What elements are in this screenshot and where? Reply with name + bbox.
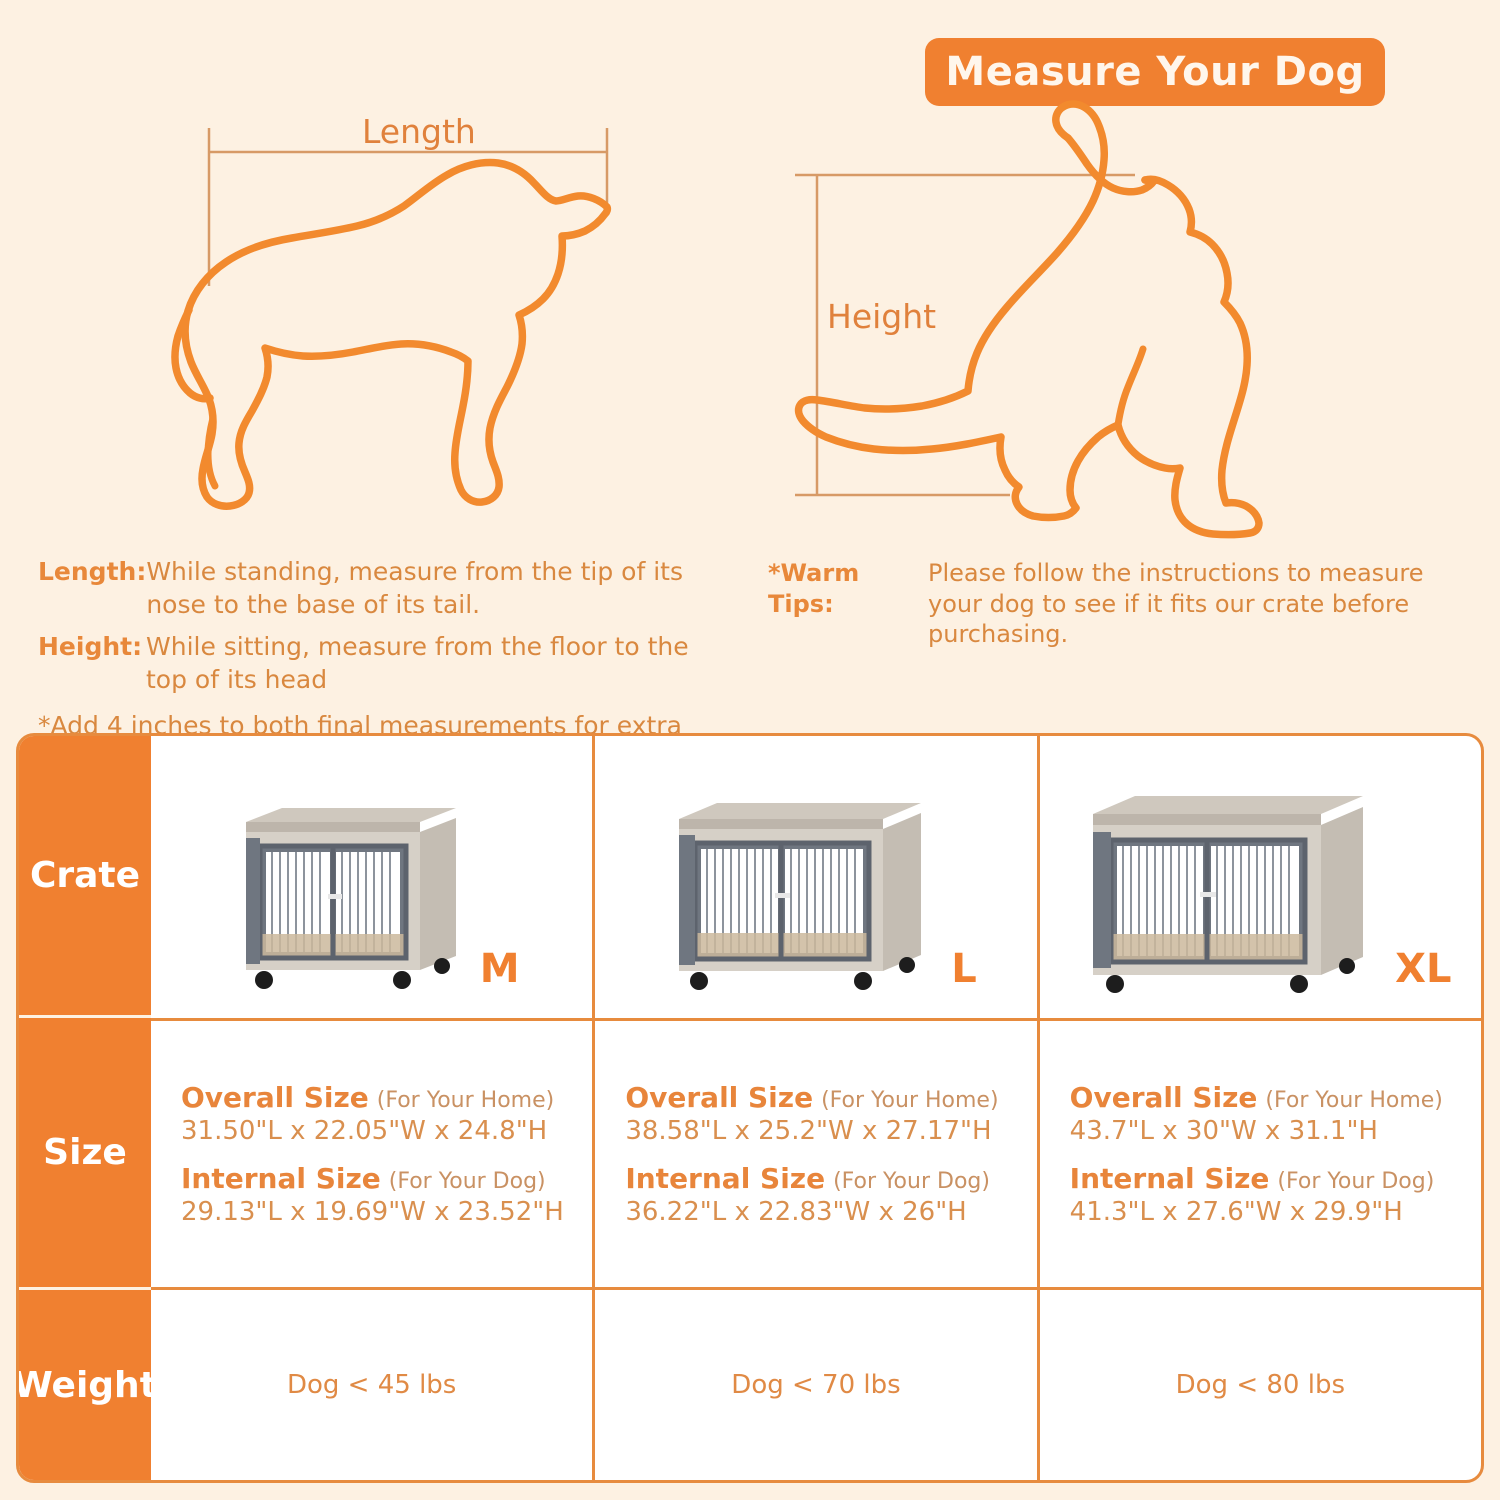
- internal-size-label-m: Internal Size: [181, 1162, 381, 1195]
- table-row-crate: M: [151, 736, 1481, 1018]
- crate-cell-m: M: [151, 736, 595, 1018]
- internal-size-paren-l: (For Your Dog): [833, 1169, 990, 1194]
- internal-size-heading-l: Internal Size(For Your Dog): [625, 1162, 1036, 1195]
- internal-size-paren-xl: (For Your Dog): [1277, 1169, 1434, 1194]
- overall-size-paren-m: (For Your Home): [377, 1088, 554, 1113]
- warm-tips-key: *Warm Tips:: [768, 558, 928, 619]
- size-tag-l: L: [951, 946, 977, 992]
- standing-dog-outline-icon: [185, 163, 607, 507]
- size-tag-m: M: [480, 946, 520, 992]
- size-tag-xl: XL: [1395, 946, 1451, 992]
- table-row-weight: Dog < 45 lbs Dog < 70 lbs Dog < 80 lbs: [151, 1290, 1481, 1480]
- instruction-length: Length: While standing, measure from the…: [38, 556, 728, 621]
- internal-size-heading-m: Internal Size(For Your Dog): [181, 1162, 592, 1195]
- crate-photo-wrap-xl: XL: [1069, 744, 1451, 1014]
- table-row-size: Overall Size(For Your Home) 31.50"L x 22…: [151, 1018, 1481, 1290]
- dog-crate-furniture-photo: [655, 779, 945, 1014]
- internal-size-label-xl: Internal Size: [1070, 1162, 1270, 1195]
- dog-crate-furniture-photo: [1069, 774, 1389, 1014]
- row-label-crate: Crate: [19, 736, 151, 1018]
- overall-size-heading-xl: Overall Size(For Your Home): [1070, 1081, 1481, 1114]
- weight-value-xl: Dog < 80 lbs: [1176, 1370, 1345, 1400]
- internal-size-heading-xl: Internal Size(For Your Dog): [1070, 1162, 1481, 1195]
- weight-value-l: Dog < 70 lbs: [731, 1370, 900, 1400]
- overall-size-dims-l: 38.58"L x 25.2"W x 27.17"H: [625, 1116, 1036, 1146]
- size-cell-l: Overall Size(For Your Home) 38.58"L x 25…: [595, 1021, 1039, 1287]
- instruction-height-key: Height:: [38, 631, 146, 664]
- weight-cell-l: Dog < 70 lbs: [595, 1290, 1039, 1480]
- illustration-area: Length Height: [0, 0, 1500, 545]
- crate-comparison-table: Crate Size Weight: [16, 733, 1484, 1483]
- warm-tips: *Warm Tips: Please follow the instructio…: [768, 558, 1483, 650]
- overall-size-label-m: Overall Size: [181, 1081, 369, 1114]
- internal-size-paren-m: (For Your Dog): [389, 1169, 546, 1194]
- instruction-height-text: While sitting, measure from the floor to…: [146, 631, 716, 696]
- dog-crate-furniture-photo: [224, 784, 474, 1014]
- row-label-size: Size: [19, 1018, 151, 1290]
- internal-size-label-l: Internal Size: [625, 1162, 825, 1195]
- overall-size-dims-xl: 43.7"L x 30"W x 31.1"H: [1070, 1116, 1481, 1146]
- weight-value-m: Dog < 45 lbs: [287, 1370, 456, 1400]
- crate-cell-l: L: [595, 736, 1039, 1018]
- row-label-weight: Weight: [19, 1290, 151, 1480]
- standing-dog-rear-leg-icon: [208, 418, 215, 486]
- overall-size-heading-m: Overall Size(For Your Home): [181, 1081, 592, 1114]
- length-dimension-label: Length: [362, 112, 476, 151]
- warm-tips-text: Please follow the instructions to measur…: [928, 558, 1483, 650]
- crate-photo-wrap-l: L: [655, 744, 977, 1014]
- infographic-page: Measure Your Dog: [0, 0, 1500, 1500]
- overall-size-dims-m: 31.50"L x 22.05"W x 24.8"H: [181, 1116, 592, 1146]
- internal-size-dims-l: 36.22"L x 22.83"W x 26"H: [625, 1197, 1036, 1227]
- height-dimension-label: Height: [827, 297, 936, 336]
- instruction-height: Height: While sitting, measure from the …: [38, 631, 728, 696]
- crate-cell-xl: XL: [1040, 736, 1481, 1018]
- overall-size-paren-xl: (For Your Home): [1265, 1088, 1442, 1113]
- weight-cell-m: Dog < 45 lbs: [151, 1290, 595, 1480]
- crate-photo-wrap-m: M: [224, 744, 520, 1014]
- sitting-dog-head-icon: [1068, 138, 1154, 192]
- size-cell-m: Overall Size(For Your Home) 31.50"L x 22…: [151, 1021, 595, 1287]
- size-cell-xl: Overall Size(For Your Home) 43.7"L x 30"…: [1040, 1021, 1481, 1287]
- weight-cell-xl: Dog < 80 lbs: [1040, 1290, 1481, 1480]
- instruction-length-text: While standing, measure from the tip of …: [146, 556, 716, 621]
- internal-size-dims-m: 29.13"L x 19.69"W x 23.52"H: [181, 1197, 592, 1227]
- internal-size-dims-xl: 41.3"L x 27.6"W x 29.9"H: [1070, 1197, 1481, 1227]
- table-row-label-column: Crate Size Weight: [19, 736, 151, 1480]
- overall-size-label-l: Overall Size: [625, 1081, 813, 1114]
- overall-size-paren-l: (For Your Home): [821, 1088, 998, 1113]
- overall-size-label-xl: Overall Size: [1070, 1081, 1258, 1114]
- dog-measurement-diagram: [0, 0, 1500, 545]
- instruction-length-key: Length:: [38, 556, 146, 589]
- table-body: M: [151, 736, 1481, 1480]
- sitting-dog-front-leg-icon: [1118, 349, 1143, 425]
- overall-size-heading-l: Overall Size(For Your Home): [625, 1081, 1036, 1114]
